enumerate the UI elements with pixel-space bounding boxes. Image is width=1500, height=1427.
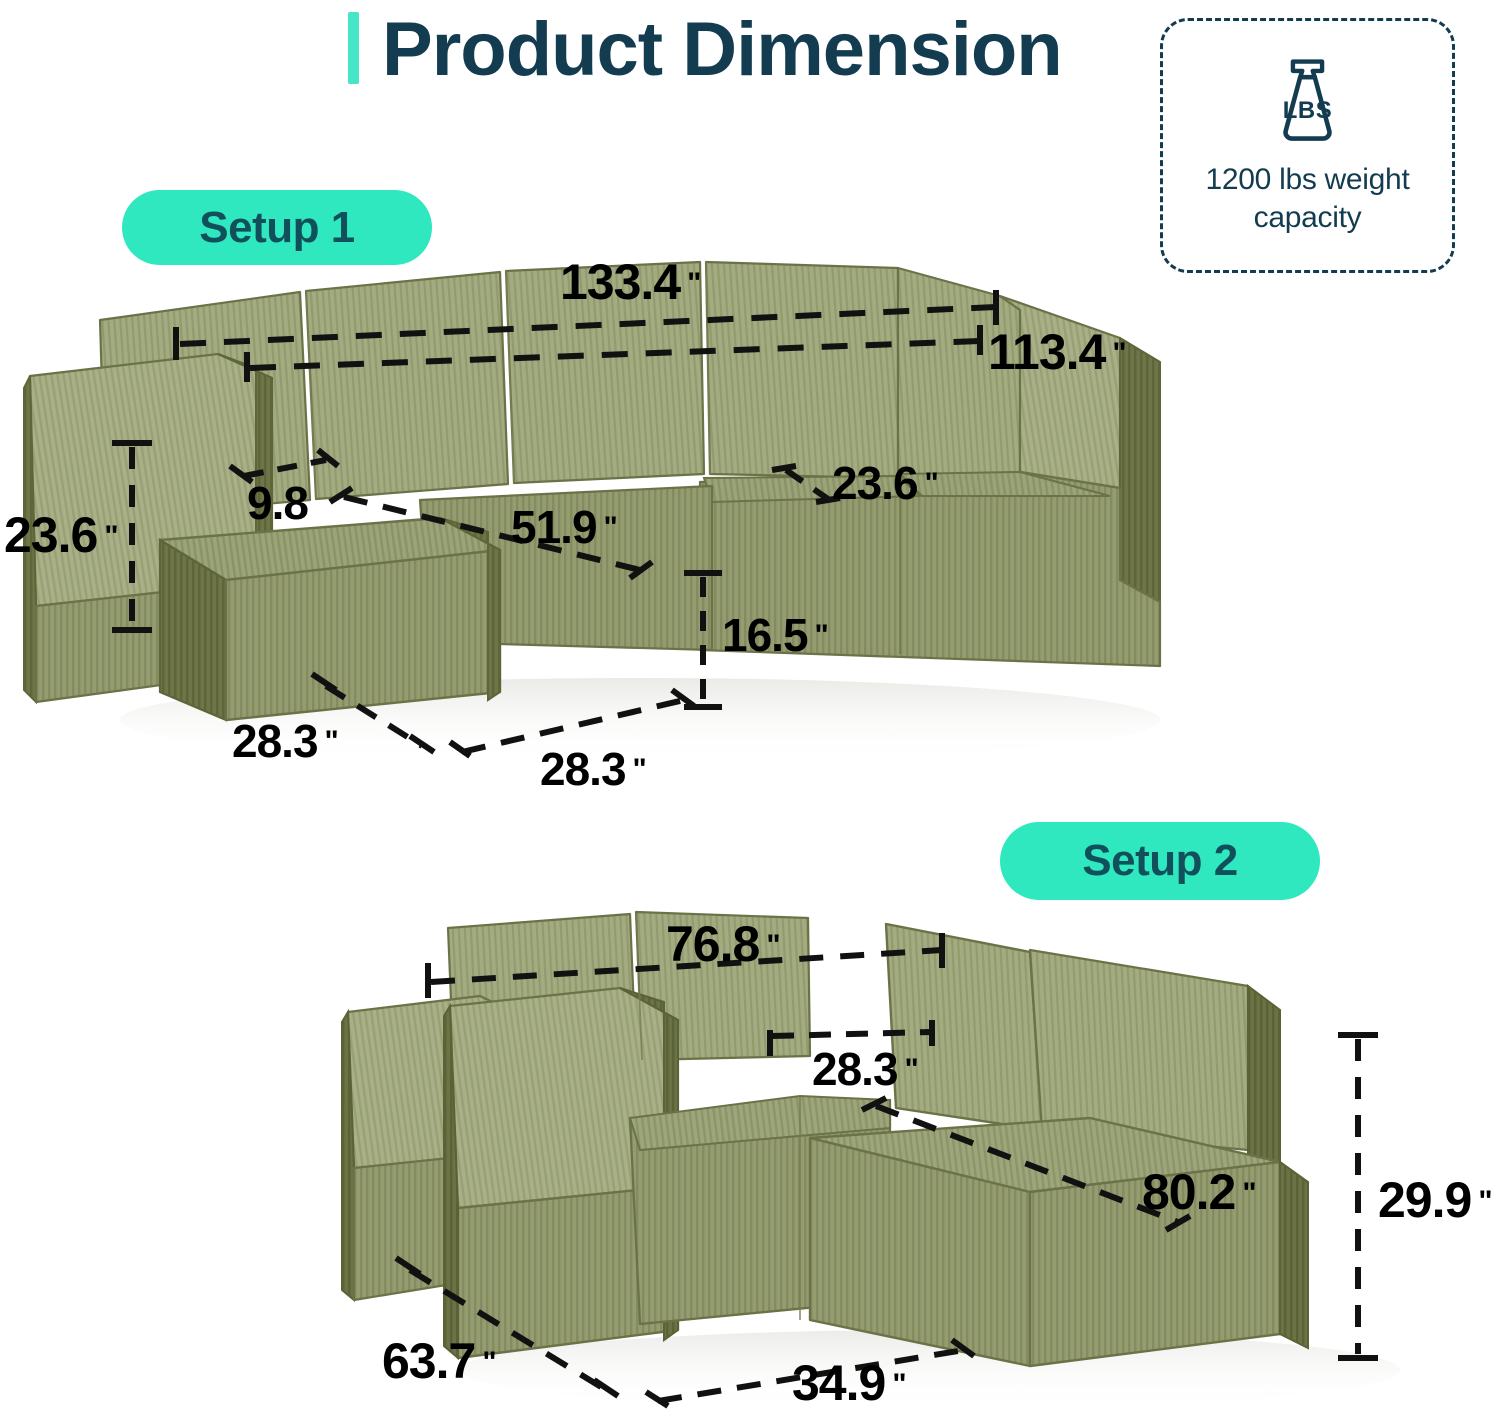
dim-setup1-sofa-width: 113.4" [988,323,1126,381]
dim-setup1-seat-depth: 23.6" [832,456,938,510]
dim-setup1-overall-height: 23.6" [4,506,118,564]
dim-setup2-overall-height: 29.9" [1378,1171,1492,1229]
dim-setup2-overall-width: 76.8" [666,915,780,973]
dim-setup1-overall-width: 133.4" [560,253,700,311]
dim-setup2-seat-diagonal: 80.2" [1142,1163,1256,1221]
dim-setup1-chaise-length: 51.9" [511,500,617,554]
dim-setup2-module-width: 34.9" [792,1354,906,1412]
dim-setup1-armrest-width: 9.8 [247,476,308,530]
dim-setup1-chaise-depth-front: 28.3" [540,742,646,796]
page-title: Product Dimension [382,8,1062,92]
dim-setup2-overall-depth: 63.7" [382,1332,496,1390]
setup-2-illustration [330,900,1500,1427]
dim-setup1-seat-height: 16.5" [722,608,828,662]
weight-capacity-text: 1200 lbs weight capacity [1163,161,1452,237]
weight-capacity-badge: LBS 1200 lbs weight capacity [1160,18,1455,273]
dim-setup2-backrest-width: 28.3" [812,1042,918,1096]
setup-2-badge: Setup 2 [1000,822,1320,900]
weight-lbs-icon: LBS [1255,49,1360,149]
title-accent-bar [348,12,359,84]
dim-setup1-chaise-depth-left: 28.3" [232,714,338,768]
svg-text:LBS: LBS [1283,97,1332,124]
